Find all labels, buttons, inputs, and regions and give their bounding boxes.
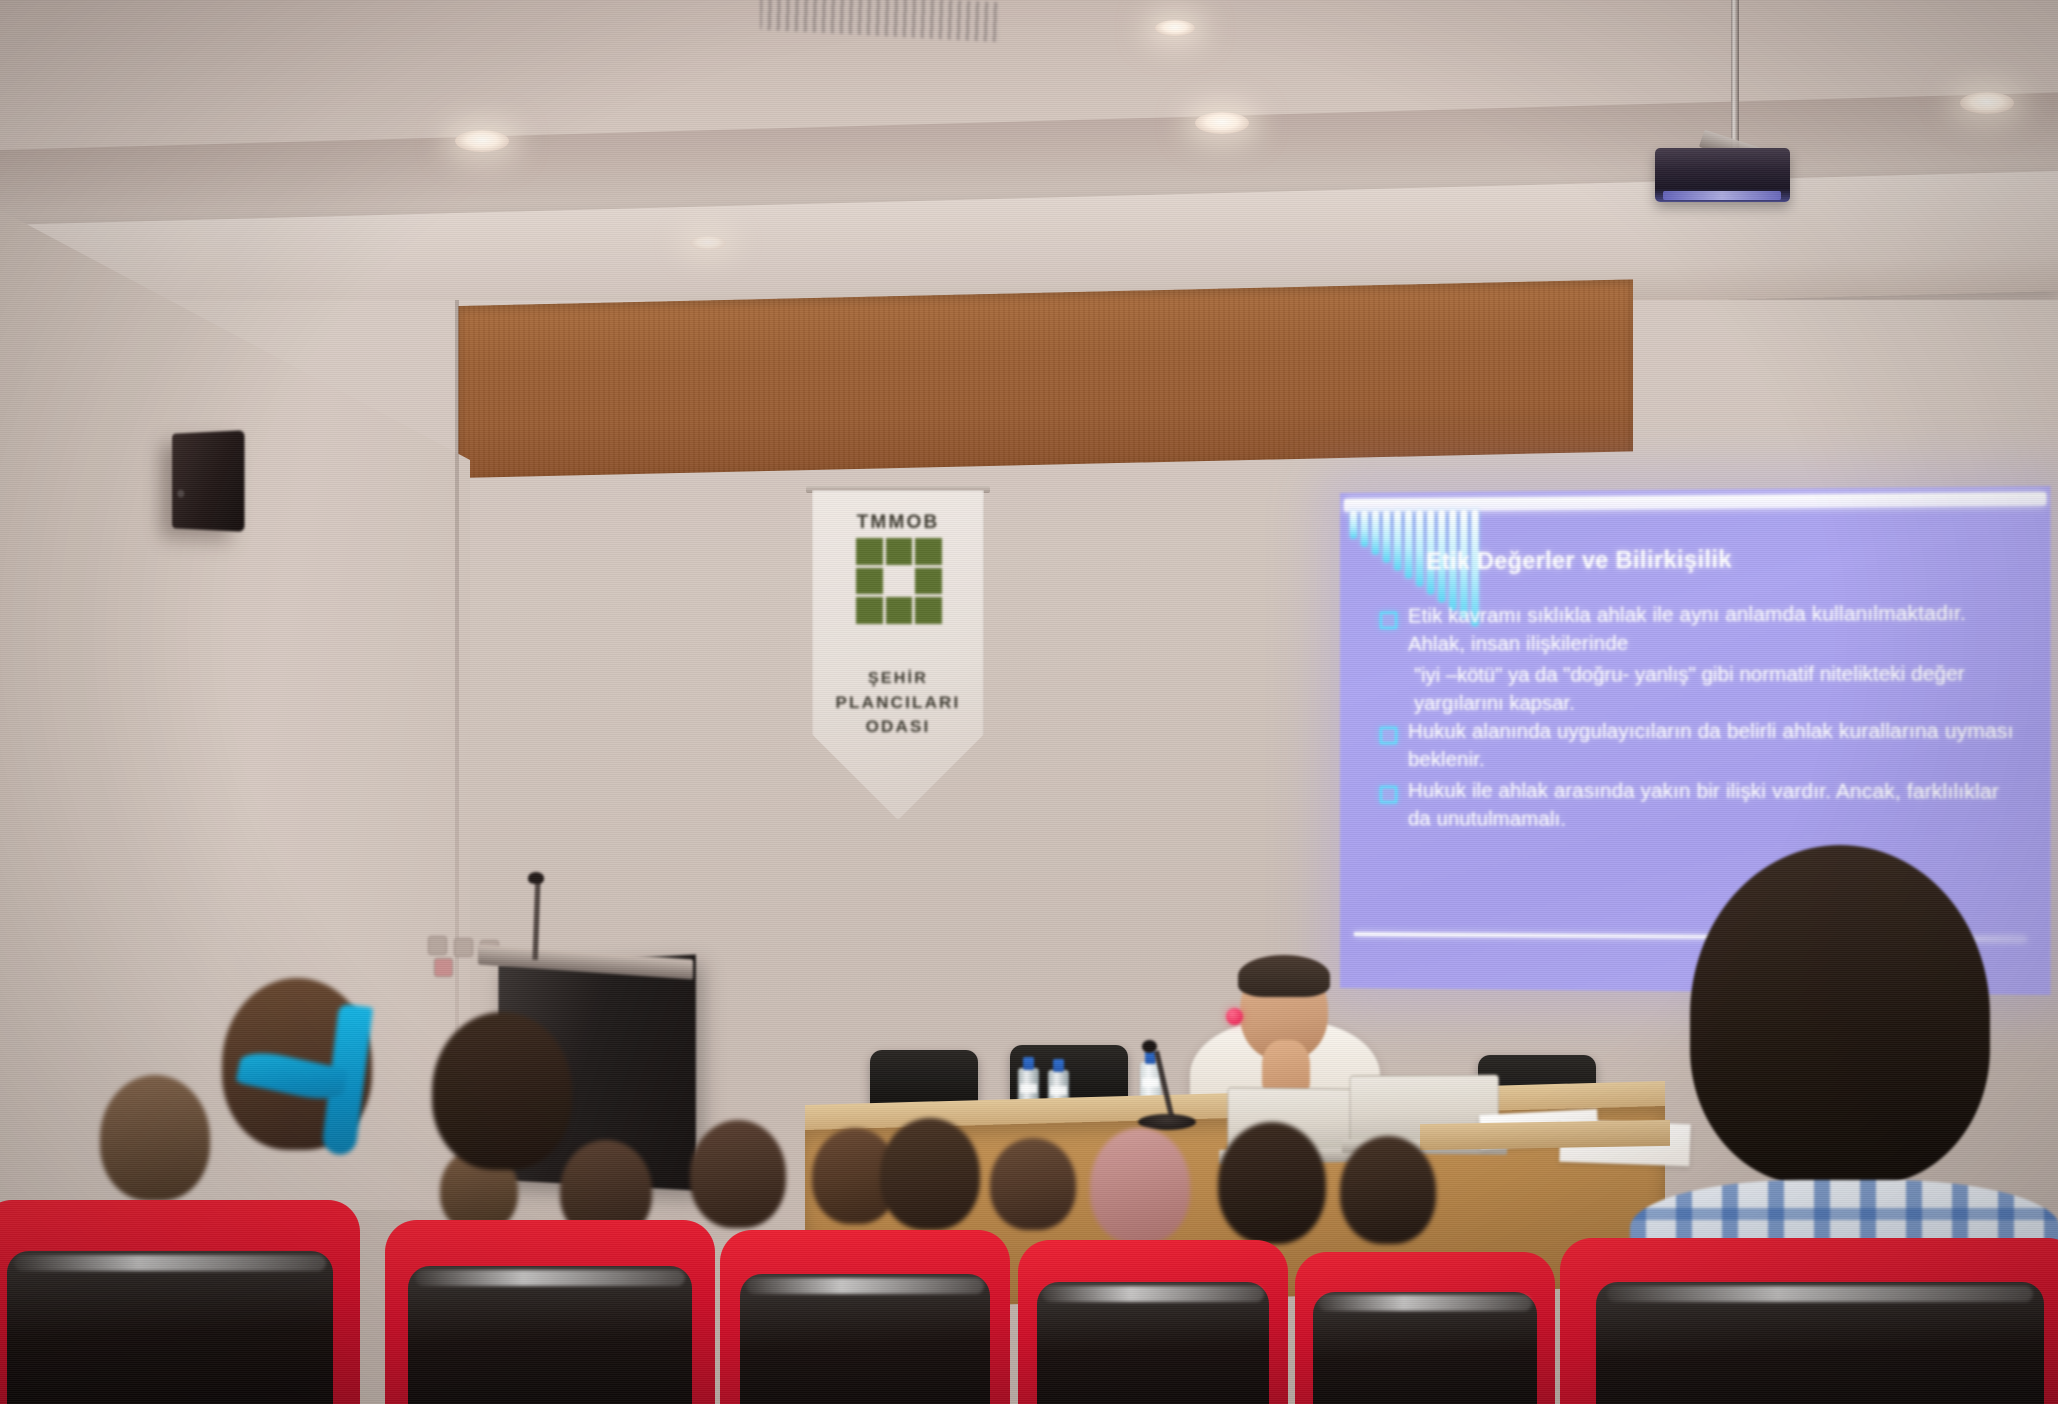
tmmob-logo-icon [856, 538, 942, 624]
microphone-indicator-light [1226, 1008, 1243, 1025]
slide-bullet-text: Hukuk ile ahlak arasında yakın bir ilişk… [1408, 777, 2025, 835]
presenter-hair [1238, 955, 1330, 997]
audience-head [990, 1138, 1076, 1230]
slide-bullet-text: Hukuk alanında uygulayıcıların da belirl… [1408, 717, 2025, 775]
bullet-square-icon [1380, 612, 1397, 629]
banner-line-3: ODASI [812, 717, 984, 737]
audience-head [880, 1118, 980, 1230]
audience-head [432, 1012, 572, 1170]
audience-head [1340, 1136, 1436, 1244]
downlight-5 [690, 236, 726, 250]
auditorium-seat [1295, 1252, 1555, 1404]
projector-mount-pole [1731, 0, 1739, 150]
audience-head [690, 1120, 786, 1228]
podium-microphone-head [528, 872, 544, 884]
banner-org-label: TMMOB [812, 512, 984, 534]
downlight-2 [1195, 112, 1249, 134]
downlight-1 [455, 130, 509, 152]
slide-bullet-continuation: "iyi –kötü" ya da "doğru- yanlış" gibi n… [1368, 660, 2025, 718]
foreground-person-head [1690, 845, 1990, 1185]
slide-bullet-list: Etik kavramı sıklıkla ahlak ile aynı anl… [1368, 599, 2025, 838]
slide-title: Etik Değerler ve Bilirkişilik [1426, 546, 1732, 575]
auditorium-photo: TMMOB ŞEHİR PLANCILARI ODASI Etik Değerl [0, 0, 2058, 1404]
projector-icon [1655, 148, 1790, 202]
downlight-4 [1155, 20, 1195, 36]
audience-head [100, 1075, 210, 1201]
bullet-square-icon [1380, 727, 1397, 744]
slide-bullet-item: Etik kavramı sıklıkla ahlak ile aynı anl… [1368, 599, 2025, 659]
wall-speaker-icon [172, 430, 244, 532]
table-microphone-head [1142, 1040, 1157, 1053]
slide-bullet-item: Hukuk ile ahlak arasında yakın bir ilişk… [1368, 777, 2025, 835]
auditorium-seat [0, 1200, 360, 1404]
bullet-square-icon [1380, 786, 1397, 803]
banner-line-1: ŞEHİR [812, 670, 984, 688]
downlight-3 [1960, 92, 2014, 114]
auditorium-seat [1018, 1240, 1288, 1404]
auditorium-seat-foreground [1560, 1238, 2058, 1404]
banner-line-2: PLANCILARI [812, 693, 984, 713]
auditorium-seat [385, 1220, 715, 1404]
side-table-surface [1420, 1120, 1670, 1150]
auditorium-seat [720, 1230, 1010, 1404]
audience-head-headscarf [1090, 1128, 1190, 1244]
slide-bullet-text: Etik kavramı sıklıkla ahlak ile aynı anl… [1408, 599, 2025, 659]
slide-bullet-item: Hukuk alanında uygulayıcıların da belirl… [1368, 717, 2025, 775]
wood-wall-band [458, 279, 1633, 478]
audience-head [1218, 1122, 1326, 1244]
slide-top-bar [1344, 492, 2046, 512]
